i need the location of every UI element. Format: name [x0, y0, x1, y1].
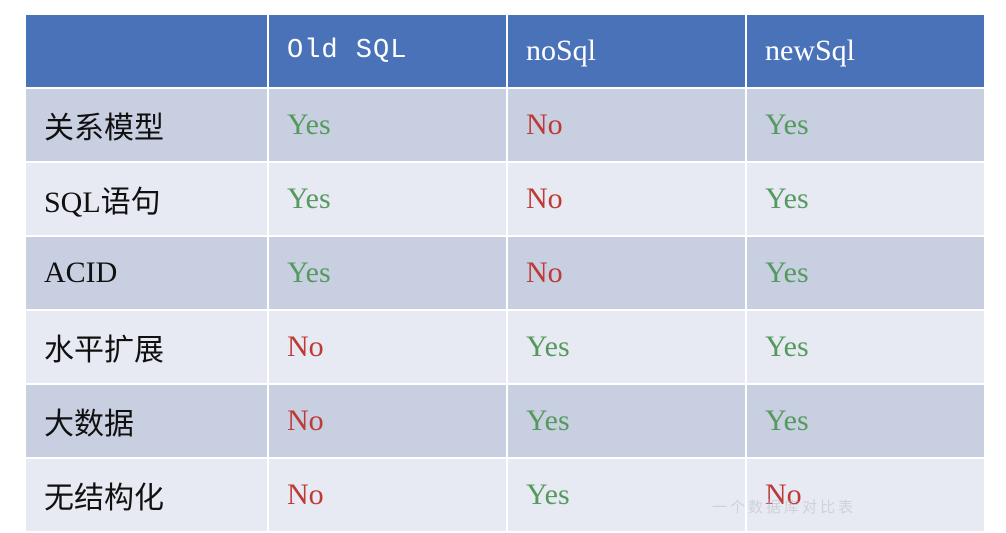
- feature-label: 无结构化: [26, 459, 267, 531]
- database-comparison-table: Old SQLnoSqlnewSql 关系模型YesNoYesSQL语句YesN…: [24, 13, 986, 533]
- cell-nosql: Yes: [508, 459, 745, 531]
- table-row: 水平扩展NoYesYes: [26, 311, 984, 383]
- table-row: ACIDYesNoYes: [26, 237, 984, 309]
- cell-nosql: No: [508, 89, 745, 161]
- cell-newsql: Yes: [747, 237, 984, 309]
- cell-nosql: No: [508, 163, 745, 235]
- cell-oldsql: No: [269, 311, 506, 383]
- table-row: 无结构化NoYesNo: [26, 459, 984, 531]
- cell-newsql: Yes: [747, 89, 984, 161]
- cell-oldsql: Yes: [269, 237, 506, 309]
- column-header-feature: [26, 15, 267, 87]
- table-row: SQL语句YesNoYes: [26, 163, 984, 235]
- cell-oldsql: Yes: [269, 163, 506, 235]
- cell-oldsql: No: [269, 385, 506, 457]
- feature-label: ACID: [26, 237, 267, 309]
- feature-label: 关系模型: [26, 89, 267, 161]
- table-header: Old SQLnoSqlnewSql: [26, 15, 984, 87]
- cell-nosql: Yes: [508, 311, 745, 383]
- table-header-row: Old SQLnoSqlnewSql: [26, 15, 984, 87]
- column-header-oldsql: Old SQL: [269, 15, 506, 87]
- feature-label: 大数据: [26, 385, 267, 457]
- cell-nosql: Yes: [508, 385, 745, 457]
- cell-oldsql: Yes: [269, 89, 506, 161]
- column-header-nosql: noSql: [508, 15, 745, 87]
- cell-newsql: Yes: [747, 163, 984, 235]
- cell-nosql: No: [508, 237, 745, 309]
- feature-label: 水平扩展: [26, 311, 267, 383]
- cell-newsql: No: [747, 459, 984, 531]
- table-row: 大数据NoYesYes: [26, 385, 984, 457]
- column-header-newsql: newSql: [747, 15, 984, 87]
- cell-newsql: Yes: [747, 311, 984, 383]
- cell-newsql: Yes: [747, 385, 984, 457]
- feature-label: SQL语句: [26, 163, 267, 235]
- table-row: 关系模型YesNoYes: [26, 89, 984, 161]
- cell-oldsql: No: [269, 459, 506, 531]
- table-body: 关系模型YesNoYesSQL语句YesNoYesACIDYesNoYes水平扩…: [26, 89, 984, 531]
